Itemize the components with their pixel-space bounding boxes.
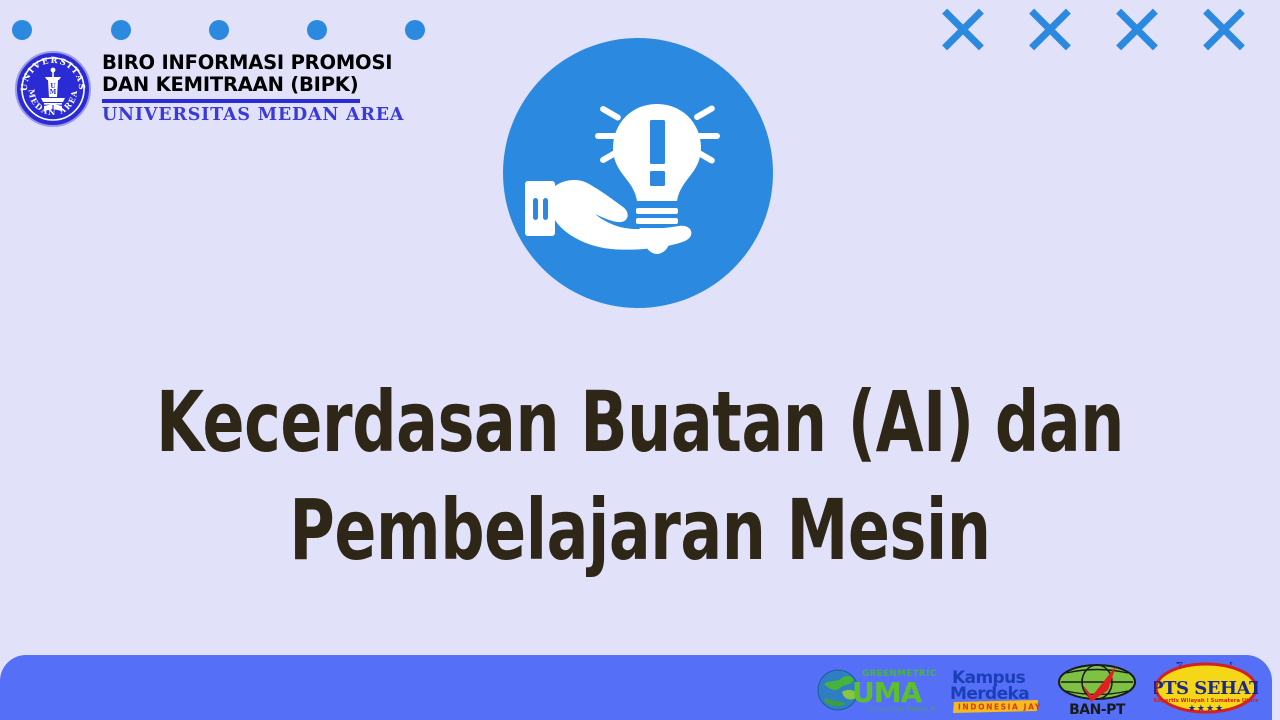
university-name: UNIVERSITAS MEDAN AREA	[102, 105, 404, 126]
pts-sehat-logo: Sertifikat PTS SEHAT Kopertis Wilayah I …	[1154, 660, 1258, 716]
hand-holding-lightbulb-idea-icon	[503, 38, 773, 308]
presentation-slide: UNIVERSITAS MEDAN AREA U M BIRO INFORMAS…	[0, 0, 1280, 720]
decor-cross-icon	[1029, 8, 1071, 50]
bipk-line-1: BIRO INFORMASI PROMOSI	[102, 52, 404, 74]
footer-logo-row: GREENMETRIC UMA Universitas Medan Area K…	[812, 655, 1258, 720]
svg-text:PTS SEHAT: PTS SEHAT	[1154, 678, 1258, 699]
header-divider	[102, 99, 360, 103]
decor-dot	[12, 20, 32, 40]
svg-text:BAN-PT: BAN-PT	[1069, 702, 1126, 716]
bipk-line-2: DAN KEMITRAAN (BIPK)	[102, 74, 404, 96]
decor-dot	[111, 20, 131, 40]
decor-dot	[209, 20, 229, 40]
svg-text:★★★★: ★★★★	[1188, 704, 1224, 714]
decorative-cross-row	[942, 8, 1262, 56]
decor-cross-icon	[1203, 8, 1245, 50]
greenmetric-uma-logo: GREENMETRIC UMA Universitas Medan Area	[812, 660, 936, 716]
ban-pt-logo: BAN-PT	[1052, 660, 1142, 716]
title-line-2: Pembelajaran Mesin	[115, 476, 1165, 584]
decorative-dot-row	[12, 20, 452, 42]
decor-cross-icon	[1116, 8, 1158, 50]
institution-header-text: BIRO INFORMASI PROMOSI DAN KEMITRAAN (BI…	[102, 50, 404, 126]
hero-icon-circle	[503, 38, 773, 308]
universitas-medan-area-seal-icon: UNIVERSITAS MEDAN AREA U M	[14, 50, 92, 128]
slide-title: Kecerdasan Buatan (AI) dan Pembelajaran …	[0, 368, 1280, 584]
svg-text:INDONESIA JAYA: INDONESIA JAYA	[958, 702, 1040, 711]
kampus-merdeka-logo: Kampus Merdeka INDONESIA JAYA	[948, 660, 1040, 716]
svg-text:Universitas Medan Area: Universitas Medan Area	[868, 705, 936, 713]
decor-cross-icon	[942, 8, 984, 50]
institution-header: UNIVERSITAS MEDAN AREA U M BIRO INFORMAS…	[14, 50, 404, 128]
title-line-1: Kecerdasan Buatan (AI) dan	[115, 368, 1165, 476]
decor-dot	[307, 20, 327, 40]
svg-text:M: M	[50, 89, 57, 96]
footer-bar: GREENMETRIC UMA Universitas Medan Area K…	[0, 655, 1272, 720]
decor-dot	[405, 20, 425, 40]
